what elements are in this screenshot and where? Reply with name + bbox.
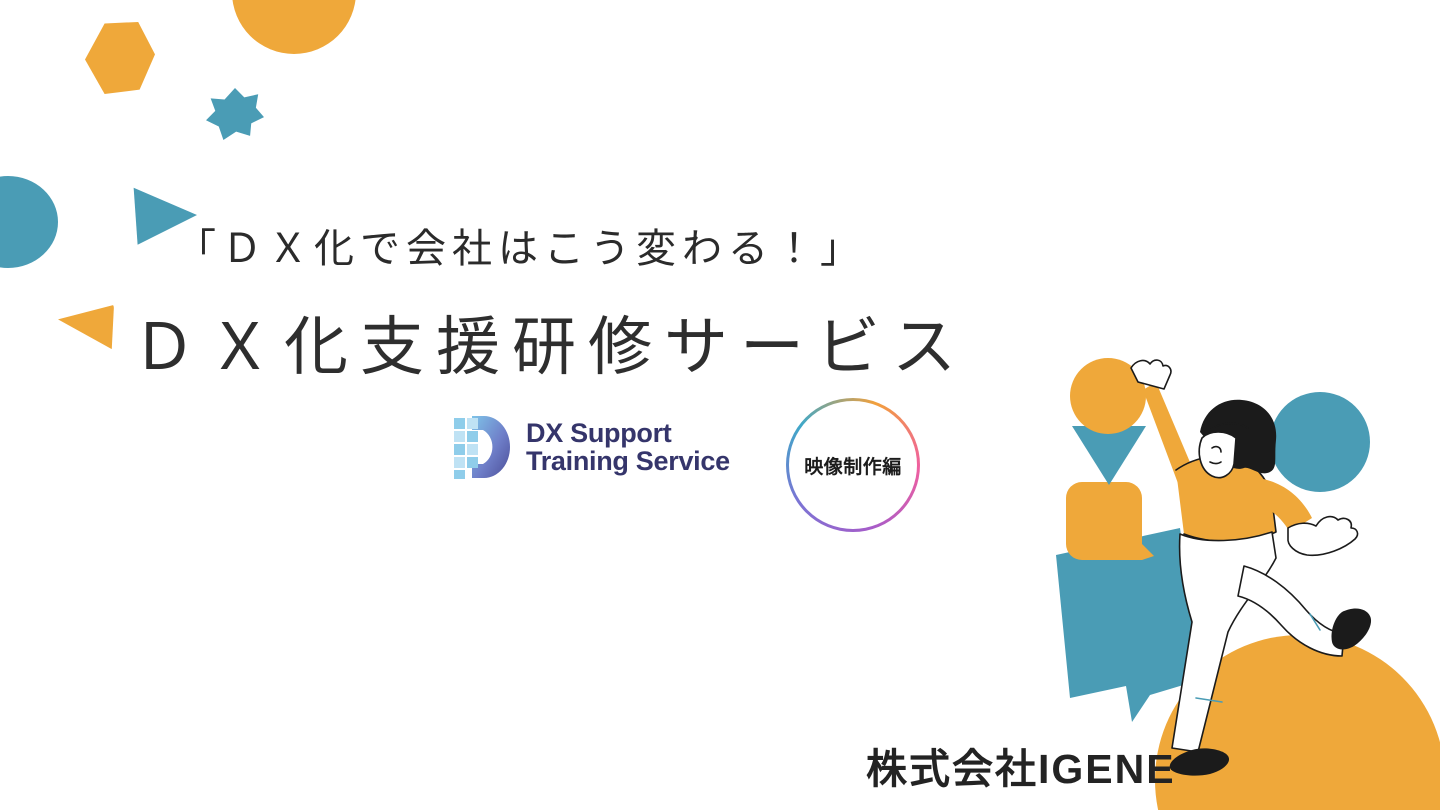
teal-ball-tossed: [1270, 392, 1370, 492]
orange-hexagon-decoration: [85, 22, 155, 94]
course-edition-label: 映像制作編: [804, 452, 902, 479]
orange-circle-top-decoration: [232, 0, 356, 54]
dx-support-d-logo-icon: [452, 414, 510, 480]
teal-circle-left-decoration: [0, 176, 58, 268]
orange-rounded-block: [1066, 482, 1154, 560]
course-edition-badge: 映像制作編: [786, 398, 920, 532]
brand-wordmark: DX Support Training Service: [526, 419, 730, 475]
brand-lockup: DX Support Training Service: [452, 414, 730, 480]
company-name: 株式会社IGENE: [866, 735, 1176, 795]
teal-triangle-down: [1072, 426, 1146, 485]
brand-line-1: DX Support: [526, 419, 730, 447]
subtitle-quote: 「ＤＸ化で会社はこう変わる！」: [176, 216, 866, 274]
brand-line-2: Training Service: [526, 447, 730, 475]
slide-canvas: 「ＤＸ化で会社はこう変わる！」 ＤＸ化支援研修サービス: [0, 0, 1440, 810]
teal-star-burst-decoration: [206, 88, 264, 140]
orange-triangle-left-decoration: [58, 303, 114, 351]
page-title: ＤＸ化支援研修サービス: [132, 296, 968, 388]
